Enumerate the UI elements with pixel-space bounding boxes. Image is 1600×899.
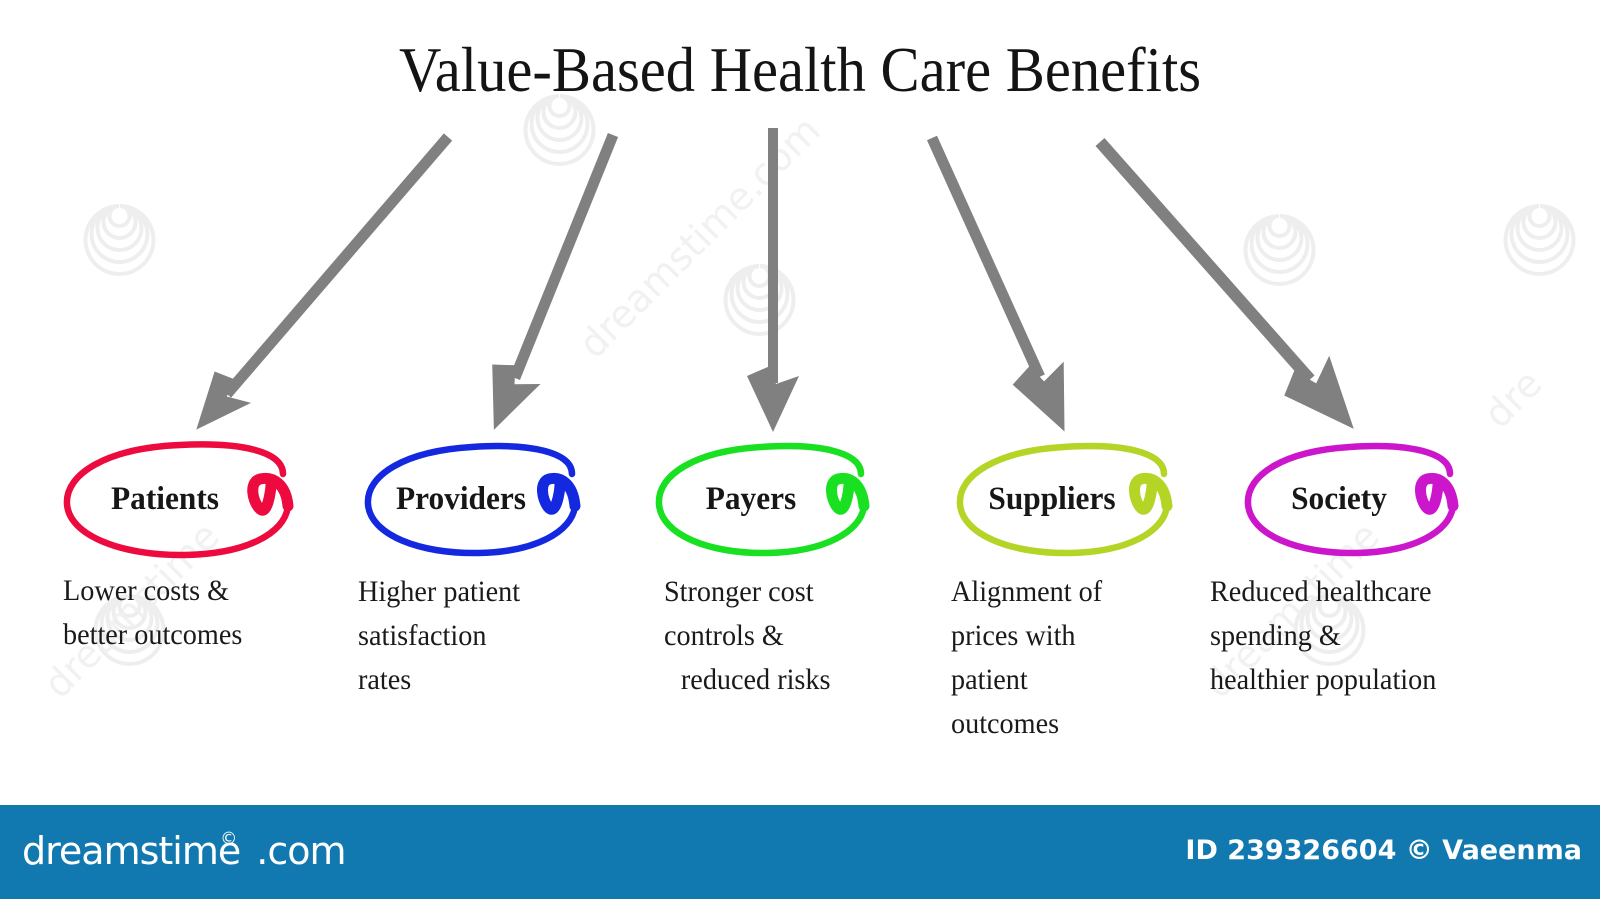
- node-label-society: Society: [1235, 481, 1442, 518]
- desc-line: Lower costs &: [63, 569, 345, 613]
- node-desc-payers: Stronger cost controls & reduced risks: [664, 570, 927, 702]
- node-suppliers[interactable]: Suppliers: [940, 436, 1195, 576]
- desc-line: controls &: [664, 614, 927, 658]
- desc-line: prices with: [951, 614, 1214, 658]
- stock-footer-bar: dreamstime©.com ID 239326604 © Vaeenma: [0, 805, 1600, 899]
- desc-line: satisfaction: [358, 614, 621, 658]
- node-providers[interactable]: Providers: [350, 436, 605, 576]
- desc-line: reduced risks: [664, 658, 927, 702]
- node-desc-providers: Higher patient satisfaction rates: [358, 570, 621, 702]
- diagram-title: Value-Based Health Care Benefits: [56, 34, 1544, 107]
- node-society[interactable]: Society: [1230, 436, 1480, 576]
- brand-name: dreamstime: [22, 829, 240, 873]
- image-credit: ID 239326604 © Vaeenma: [1185, 835, 1582, 866]
- node-desc-society: Reduced healthcare spending & healthier …: [1210, 570, 1530, 702]
- desc-line: rates: [358, 658, 621, 702]
- arrow-to-suppliers: [906, 126, 1090, 443]
- desc-line: healthier population: [1210, 658, 1530, 702]
- arrow-to-payers: [747, 128, 799, 432]
- desc-line: spending &: [1210, 614, 1530, 658]
- brand-tld: .com: [256, 829, 345, 873]
- node-desc-patients: Lower costs & better outcomes: [63, 569, 345, 657]
- node-label-payers: Payers: [648, 481, 853, 518]
- arrow-to-society: [1078, 122, 1377, 449]
- desc-line: better outcomes: [63, 613, 345, 657]
- arrow-to-providers: [470, 125, 637, 439]
- node-label-providers: Providers: [356, 481, 567, 518]
- desc-line: Stronger cost: [664, 570, 927, 614]
- node-desc-suppliers: Alignment of prices with patient outcome…: [951, 570, 1214, 746]
- diagram-canvas: dreamstime.com dreamstime dreamstime dre…: [0, 0, 1600, 899]
- desc-line: Reduced healthcare: [1210, 570, 1530, 614]
- node-label-patients: Patients: [51, 481, 279, 518]
- node-label-suppliers: Suppliers: [946, 481, 1159, 518]
- node-patients[interactable]: Patients: [45, 436, 325, 576]
- desc-line: patient: [951, 658, 1214, 702]
- node-payers[interactable]: Payers: [643, 436, 893, 576]
- desc-line: outcomes: [951, 702, 1214, 746]
- dreamstime-logo[interactable]: dreamstime©.com: [22, 829, 346, 873]
- desc-line: Higher patient: [358, 570, 621, 614]
- arrow-to-patients: [178, 121, 466, 445]
- registered-mark-icon: ©: [220, 829, 236, 849]
- desc-line: Alignment of: [951, 570, 1214, 614]
